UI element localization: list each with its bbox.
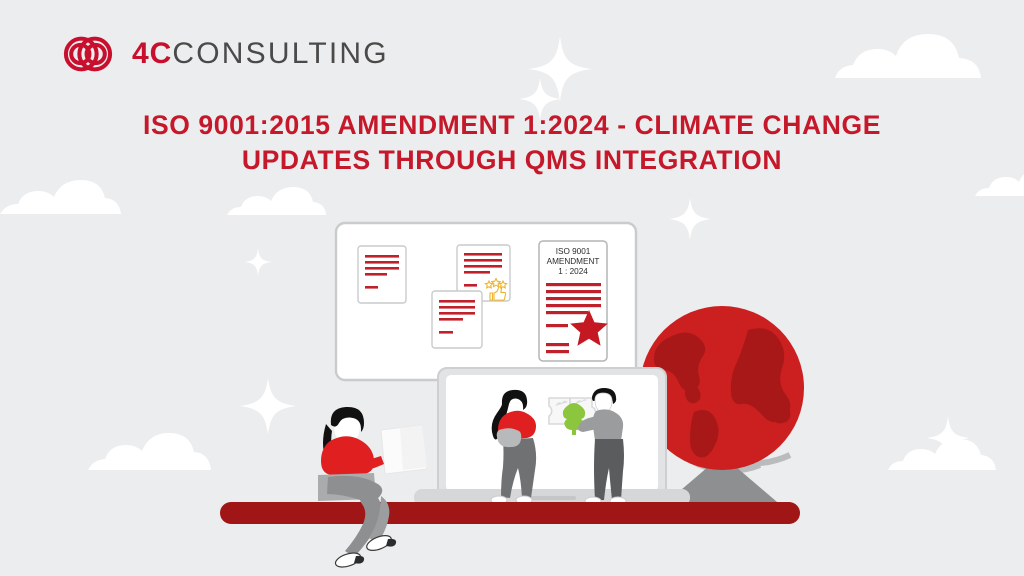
- iso-card-heading-line2: AMENDMENT: [547, 257, 600, 266]
- document-card-middle[interactable]: [432, 291, 482, 348]
- iso-card-heading-line1: ISO 9001: [556, 247, 591, 256]
- hero-illustration: ISO 9001 AMENDMENT 1 : 2024: [0, 0, 1024, 576]
- document-card-iso[interactable]: ISO 9001 AMENDMENT 1 : 2024: [539, 241, 608, 361]
- bag-left: [497, 428, 522, 447]
- laptop-screen: [446, 375, 658, 491]
- iso-card-heading-line3: 1 : 2024: [558, 267, 588, 276]
- floor-bar: [220, 502, 800, 524]
- laptop[interactable]: [414, 368, 690, 506]
- poster-canvas: 4CCONSULTING ISO 9001:2015 AMENDMENT 1:2…: [0, 0, 1024, 576]
- head-right: [595, 393, 612, 412]
- document-card-left[interactable]: [358, 246, 406, 303]
- whiteboard-panel[interactable]: ISO 9001 AMENDMENT 1 : 2024: [336, 223, 636, 380]
- seated-person-reading: [318, 407, 427, 570]
